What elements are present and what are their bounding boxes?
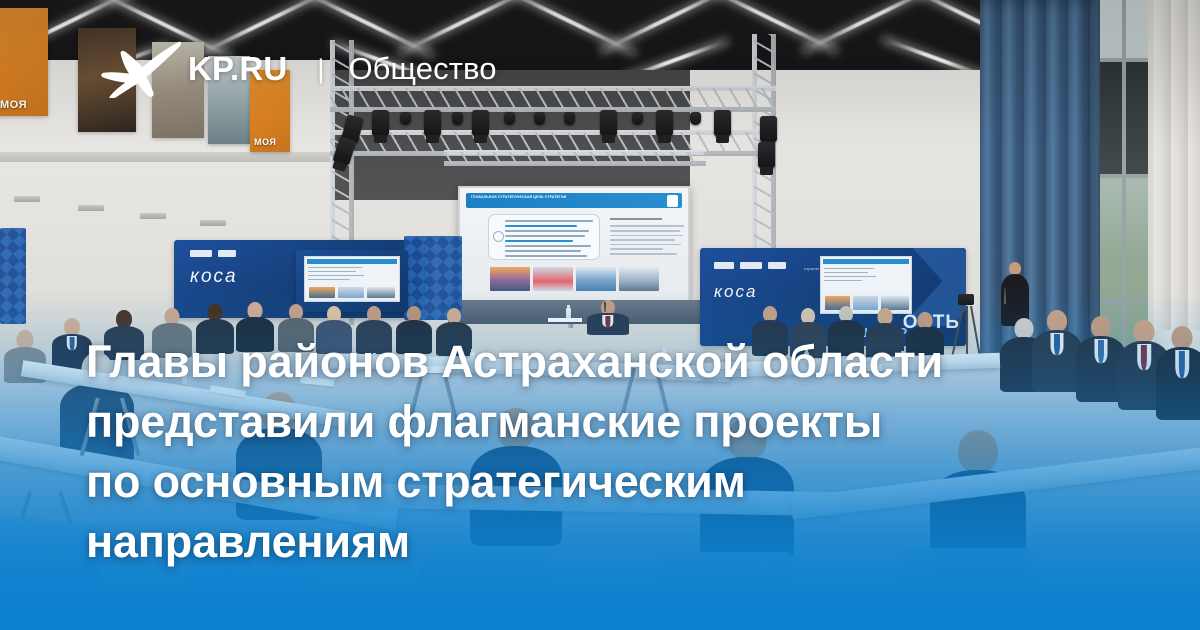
brand-name[interactable]: KP.RU xyxy=(188,50,287,88)
swallow-bird-logo-icon[interactable] xyxy=(92,40,184,98)
article-headline: Главы районов Астраханской области предс… xyxy=(86,332,1116,572)
rubric-label[interactable]: Общество xyxy=(348,51,496,87)
header-separator: | xyxy=(317,54,324,85)
brand-header[interactable]: KP.RU | Общество xyxy=(92,40,497,98)
kp-ru-social-share-card: МОЯ МОЯ xyxy=(0,0,1200,630)
